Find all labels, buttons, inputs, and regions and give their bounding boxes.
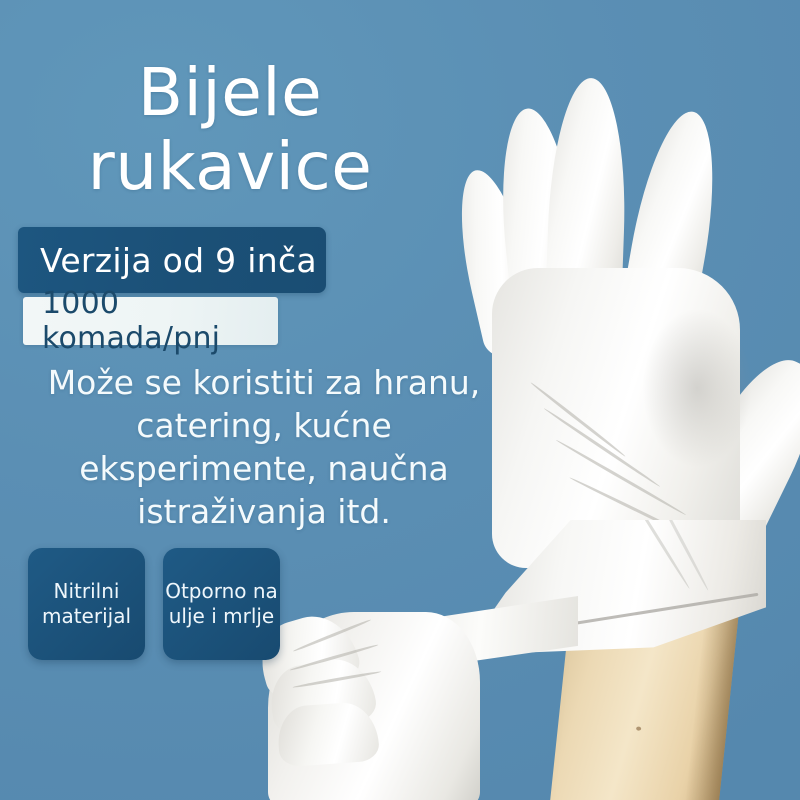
quantity-badge: 1000 komada/pnj — [23, 297, 278, 345]
glove-finger — [276, 701, 380, 768]
glove-crease — [289, 643, 378, 671]
glove-crease — [530, 381, 626, 457]
glove-crease — [651, 484, 710, 591]
glove-stretch — [398, 596, 578, 692]
glove-finger — [265, 653, 379, 736]
forearm-shading — [680, 545, 745, 800]
glove-finger-middle — [545, 77, 630, 326]
product-poster: Bijele rukavice Verzija od 9 inča 1000 k… — [0, 0, 800, 800]
forearm — [547, 531, 745, 800]
second-gloved-hand — [268, 612, 480, 800]
feature-tag-material: Nitrilni materijal — [28, 548, 145, 660]
poster-title: Bijele rukavice — [0, 56, 460, 204]
skin-mark — [654, 636, 659, 641]
skin-mark — [636, 726, 641, 731]
glove-finger-ring — [491, 105, 586, 335]
glove-palm — [492, 268, 740, 568]
feature-tag-label: Nitrilni materijal — [28, 579, 145, 629]
title-line-2: rukavice — [0, 130, 460, 204]
description-line-4: istraživanja itd. — [8, 491, 520, 534]
glove-crease — [555, 439, 686, 517]
glove-crease — [543, 407, 661, 488]
glove-finger-thumb — [650, 344, 800, 606]
size-badge: Verzija od 9 inča — [18, 227, 326, 293]
glove-shading — [642, 308, 752, 468]
feature-tags: Nitrilni materijal Otporno na ulje i mrl… — [28, 548, 280, 660]
glove-crease — [569, 476, 702, 543]
glove-crease — [292, 618, 371, 652]
glove-crease — [619, 478, 690, 590]
feature-tag-label: Otporno na ulje i mrlje — [163, 579, 280, 629]
description-line-3: eksperimente, naučna — [8, 448, 520, 491]
glove-finger-pinky — [445, 163, 548, 362]
glove-cuff-edge — [470, 520, 766, 702]
description-text: Može se koristiti za hranu, catering, ku… — [8, 362, 520, 534]
glove-cuff — [470, 520, 766, 702]
feature-tag-oil-resistant: Otporno na ulje i mrlje — [163, 548, 280, 660]
glove-finger-index — [617, 105, 730, 344]
description-line-1: Može se koristiti za hranu, — [8, 362, 520, 405]
quantity-badge-label: 1000 komada/pnj — [23, 286, 278, 356]
description-line-2: catering, kućne — [8, 405, 520, 448]
size-badge-label: Verzija od 9 inča — [18, 241, 317, 280]
title-line-1: Bijele — [0, 56, 460, 130]
glove-crease — [292, 670, 381, 689]
